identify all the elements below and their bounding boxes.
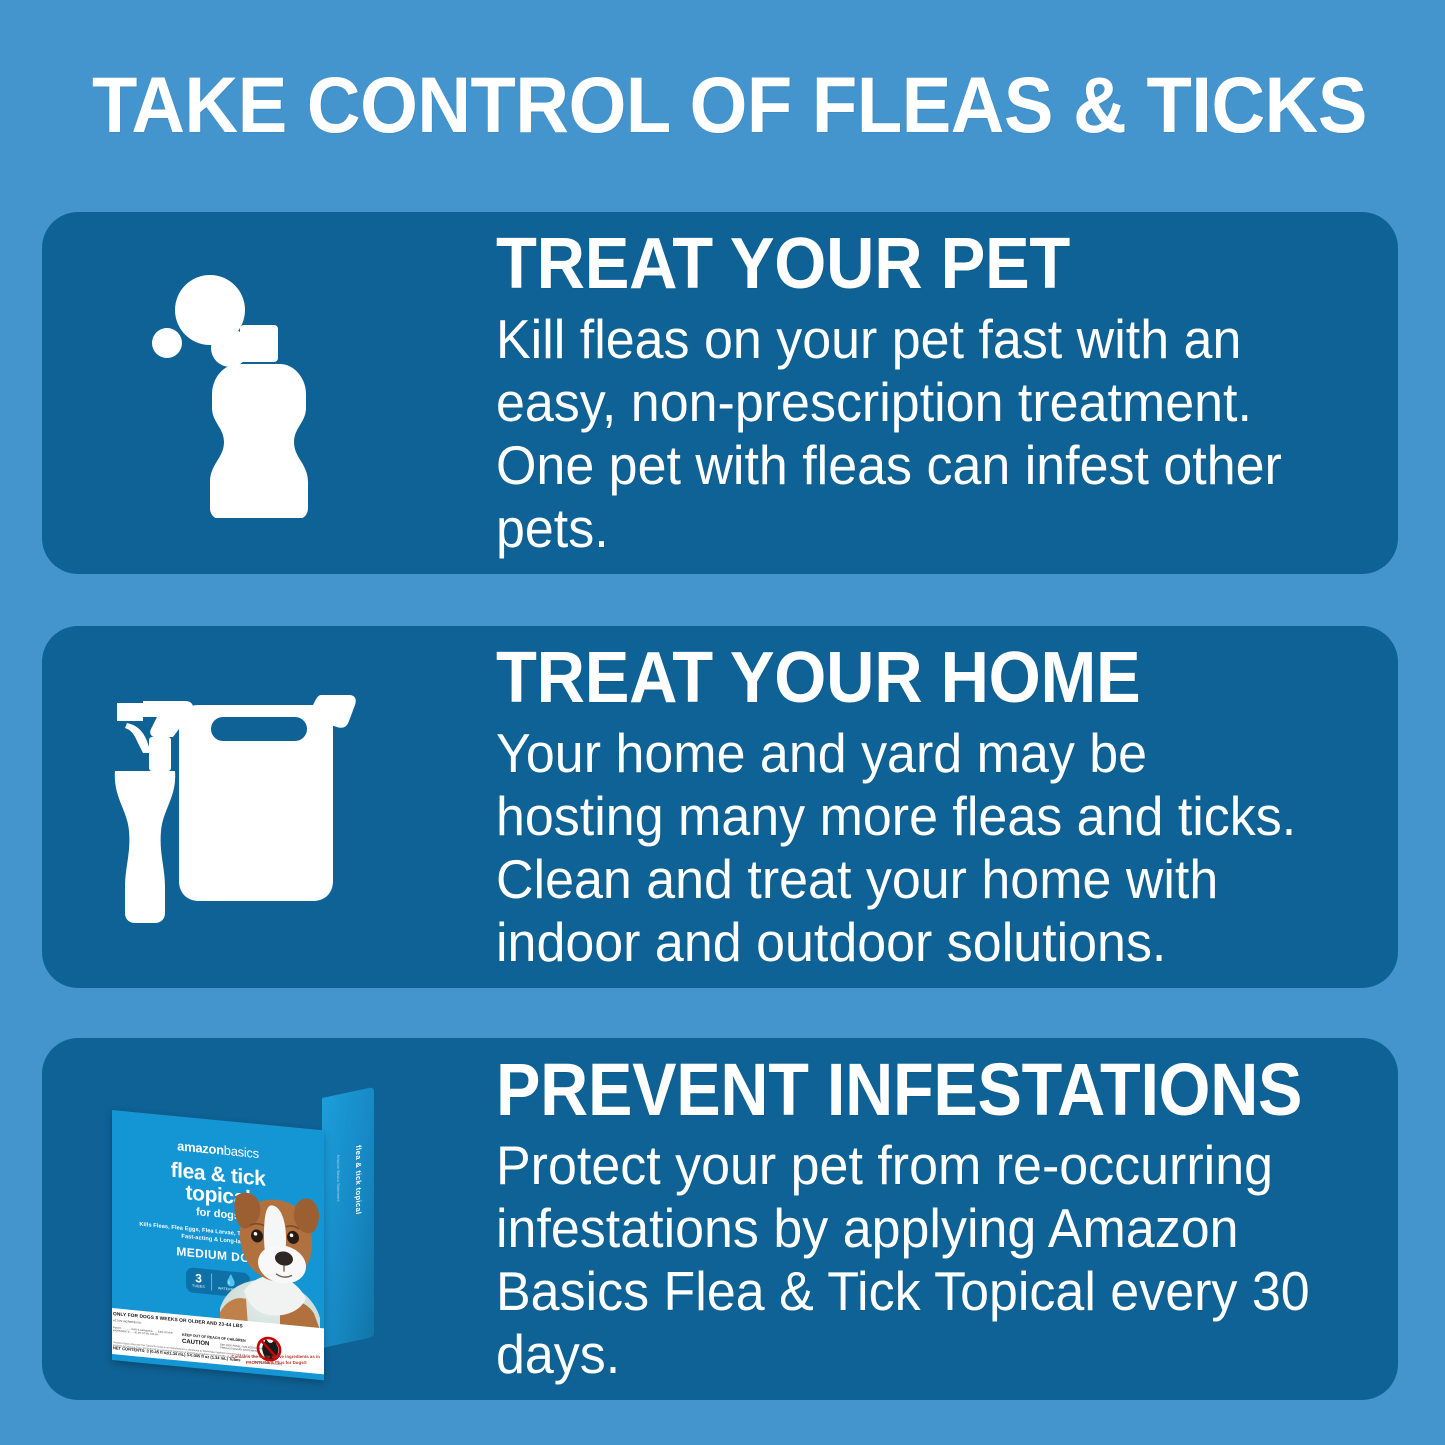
product-box-side-label: flea & tick topical	[354, 1144, 363, 1215]
card-heading: PREVENT INFESTATIONS	[496, 1052, 1283, 1128]
infographic-page: TAKE CONTROL OF FLEAS & TICKS TREAT YOUR…	[0, 0, 1445, 1445]
card-body: TREAT YOUR PET Kill fleas on your pet fa…	[454, 212, 1370, 574]
card-text: Your home and yard may be hosting many m…	[496, 722, 1322, 974]
product-box-side-panel: flea & tick topical Amazon Basics Statem…	[322, 1087, 374, 1348]
product-box-image: flea & tick topical Amazon Basics Statem…	[112, 1102, 374, 1364]
brand-basics: basics	[224, 1143, 259, 1161]
card-treat-your-pet: TREAT YOUR PET Kill fleas on your pet fa…	[42, 212, 1398, 574]
card-body: TREAT YOUR HOME Your home and yard may b…	[454, 626, 1370, 988]
page-title: TAKE CONTROL OF FLEAS & TICKS	[92, 62, 1295, 148]
tube-count-label: TUBES	[192, 1285, 205, 1290]
frontline-comparison-text: Contains the same active ingredients as …	[230, 1354, 323, 1366]
product-box-front-panel: amazonbasics flea & tick topical for dog…	[112, 1110, 324, 1380]
label-active-ingredients-heading: ACTIVE INGREDIENTS:	[113, 1319, 142, 1325]
card-text: Protect your pet from re-occurring infes…	[496, 1134, 1322, 1386]
label-caution: CAUTION	[182, 1339, 209, 1348]
shampoo-bottle-with-bubbles-icon	[42, 212, 442, 574]
tube-count: 3 TUBES	[192, 1272, 205, 1290]
card-treat-your-home: TREAT YOUR HOME Your home and yard may b…	[42, 626, 1398, 988]
spray-bottle-and-jug-icon	[42, 626, 442, 988]
card-body: PREVENT INFESTATIONS Protect your pet fr…	[454, 1038, 1370, 1400]
card-text: Kill fleas on your pet fast with an easy…	[496, 308, 1322, 560]
product-box-side-label-small: Amazon Basics Statement	[336, 1154, 341, 1202]
tube-count-value: 3	[195, 1272, 202, 1285]
card-heading: TREAT YOUR PET	[496, 226, 1309, 302]
label-ingredients: Fipronil .............. 9.8% S-methopren…	[113, 1326, 175, 1338]
brand-amazon: amazon	[177, 1138, 224, 1157]
card-heading: TREAT YOUR HOME	[496, 640, 1309, 716]
